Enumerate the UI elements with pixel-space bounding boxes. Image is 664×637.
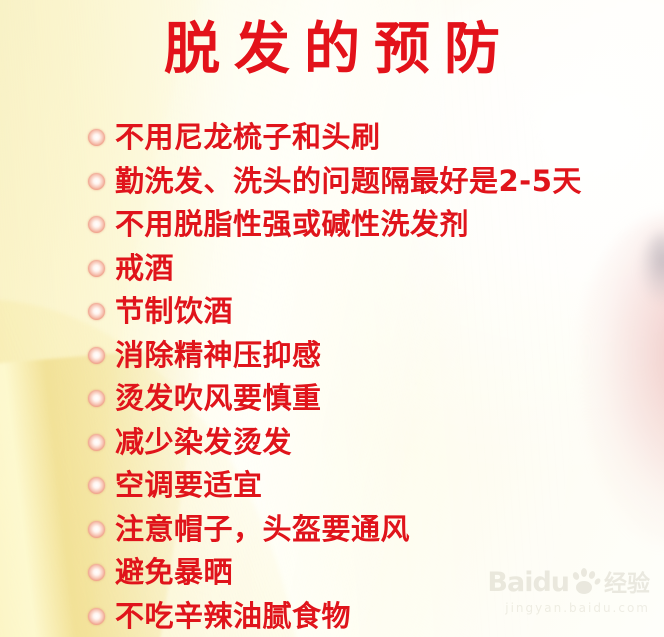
list-item: 注意帽子，头盔要通风 [88,508,664,552]
list-item: 空调要适宜 [88,464,664,508]
poster-canvas: 脱发的预防 不用尼龙梳子和头刷 勤洗发、洗头的问题隔最好是2-5天 不用脱脂性强… [0,0,664,637]
list-item: 节制饮酒 [88,290,664,334]
list-item-label: 消除精神压抑感 [115,341,322,370]
list-item-label: 戒酒 [115,254,174,283]
bullet-icon [88,216,105,233]
list-item-label: 不用脱脂性强或碱性洗发剂 [115,210,469,239]
bullet-icon [88,129,105,146]
bullet-icon [88,260,105,277]
list-item-label: 勤洗发、洗头的问题隔最好是2-5天 [115,167,582,196]
list-item: 不用尼龙梳子和头刷 [88,116,664,160]
bullet-icon [88,173,105,190]
list-item-label: 避免暴晒 [115,558,233,587]
list-item: 戒酒 [88,247,664,291]
list-item: 消除精神压抑感 [88,334,664,378]
list-item: 避免暴晒 [88,551,664,595]
list-item-label: 烫发吹风要慎重 [115,384,322,413]
bullet-icon [88,390,105,407]
list-item-label: 节制饮酒 [115,297,233,326]
tips-list: 不用尼龙梳子和头刷 勤洗发、洗头的问题隔最好是2-5天 不用脱脂性强或碱性洗发剂… [88,116,664,637]
list-item-label: 减少染发烫发 [115,428,292,457]
list-item-label: 空调要适宜 [115,471,263,500]
list-item: 减少染发烫发 [88,421,664,465]
list-item-label: 不用尼龙梳子和头刷 [115,123,381,152]
page-title: 脱发的预防 [0,22,664,78]
bullet-icon [88,434,105,451]
bullet-icon [88,564,105,581]
bullet-icon [88,347,105,364]
bullet-icon [88,303,105,320]
list-item-label: 注意帽子，头盔要通风 [115,515,410,544]
list-item: 不用脱脂性强或碱性洗发剂 [88,203,664,247]
bullet-icon [88,477,105,494]
list-item: 勤洗发、洗头的问题隔最好是2-5天 [88,160,664,204]
bullet-icon [88,521,105,538]
list-item: 烫发吹风要慎重 [88,377,664,421]
list-item-label: 不吃辛辣油腻食物 [115,602,351,631]
bullet-icon [88,608,105,625]
list-item: 不吃辛辣油腻食物 [88,595,664,637]
